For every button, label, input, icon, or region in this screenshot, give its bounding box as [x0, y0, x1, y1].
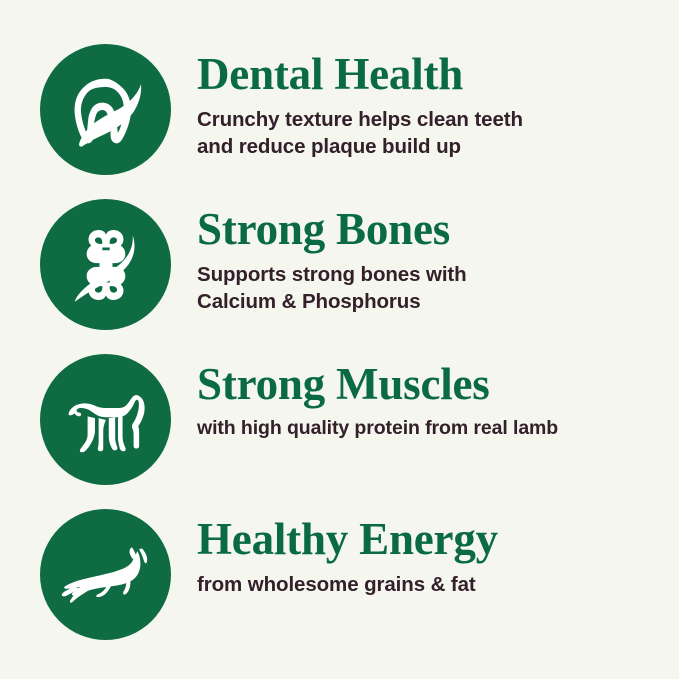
benefit-description: from wholesome grains & fat: [197, 571, 679, 598]
benefit-description-line: Crunchy texture helps clean teeth: [197, 106, 679, 133]
benefit-description-line: with high quality protein from real lamb: [197, 416, 679, 442]
standing-dog-icon-badge: [40, 354, 171, 485]
benefits-panel: Dental Health Crunchy texture helps clea…: [0, 0, 679, 679]
benefit-description-line: and reduce plaque build up: [197, 133, 679, 160]
benefit-description-line: Calcium & Phosphorus: [197, 288, 679, 315]
tooth-leaf-icon: [60, 64, 152, 156]
benefit-title: Dental Health: [197, 52, 679, 97]
benefit-row: Strong Muscles with high quality protein…: [0, 354, 679, 509]
benefit-row: Strong Bones Supports strong bones with …: [0, 199, 679, 354]
benefit-description: Crunchy texture helps clean teeth and re…: [197, 106, 679, 161]
bone-swoosh-icon: [60, 219, 152, 311]
benefit-description-line: from wholesome grains & fat: [197, 571, 679, 598]
benefit-title: Strong Muscles: [197, 362, 679, 407]
leaping-dog-icon: [60, 529, 152, 621]
benefit-description: Supports strong bones with Calcium & Pho…: [197, 261, 679, 316]
benefit-row: Dental Health Crunchy texture helps clea…: [0, 44, 679, 199]
benefit-description-line: Supports strong bones with: [197, 261, 679, 288]
leaping-dog-icon-badge: [40, 509, 171, 640]
benefit-title: Healthy Energy: [197, 517, 679, 562]
benefit-text-block: Strong Muscles with high quality protein…: [171, 354, 679, 442]
tooth-leaf-icon-badge: [40, 44, 171, 175]
bone-swoosh-icon-badge: [40, 199, 171, 330]
benefit-title: Strong Bones: [197, 207, 679, 252]
benefit-text-block: Dental Health Crunchy texture helps clea…: [171, 44, 679, 161]
benefit-text-block: Strong Bones Supports strong bones with …: [171, 199, 679, 316]
benefit-text-block: Healthy Energy from wholesome grains & f…: [171, 509, 679, 598]
benefit-row: Healthy Energy from wholesome grains & f…: [0, 509, 679, 659]
standing-dog-icon: [60, 374, 152, 466]
benefit-description: with high quality protein from real lamb: [197, 416, 679, 442]
